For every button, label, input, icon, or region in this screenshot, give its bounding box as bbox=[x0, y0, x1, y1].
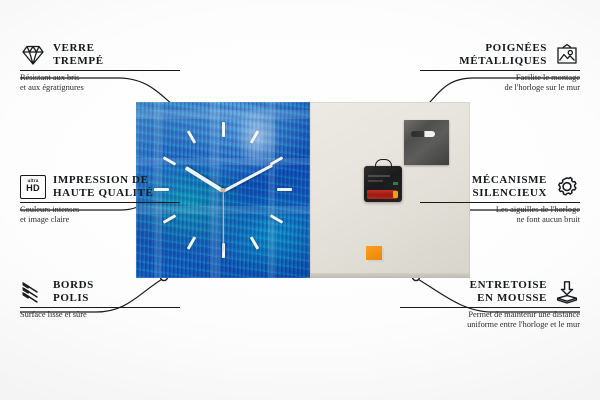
hour-tick bbox=[187, 130, 197, 144]
battery-positive-terminal bbox=[393, 191, 398, 198]
ultra-hd-badge-icon: ultra HD bbox=[20, 175, 46, 199]
movement-green-mark bbox=[393, 182, 398, 185]
title-rule bbox=[420, 70, 580, 71]
feature-subtitle: Les aiguilles de l'horloge ne font aucun… bbox=[420, 205, 580, 225]
panel-bottom-edge bbox=[310, 273, 470, 278]
feature-mecanisme-silencieux: MÉCANISME SILENCIEUX Les aiguilles de l'… bbox=[420, 174, 580, 225]
feature-title: VERRE TREMPÉ bbox=[53, 42, 104, 67]
feature-title: BORDS POLIS bbox=[53, 279, 94, 304]
feature-title: MÉCANISME SILENCIEUX bbox=[472, 174, 547, 199]
diagonal-lines-icon bbox=[20, 280, 46, 304]
feature-title: IMPRESSION DE HAUTE QUALITÉ bbox=[53, 174, 153, 199]
title-rule bbox=[400, 307, 580, 308]
feature-entretoise-en-mousse: ENTRETOISE EN MOUSSE Permet de maintenir… bbox=[400, 279, 580, 330]
feature-poignees-metalliques: POIGNÉES MÉTALLIQUES Facilite le montage… bbox=[420, 42, 580, 93]
hands-pin bbox=[221, 188, 225, 192]
hour-tick bbox=[277, 188, 292, 191]
arrow-down-onto-pad-icon bbox=[554, 280, 580, 304]
hour-tick bbox=[250, 236, 260, 250]
feature-subtitle: Résistant aux bris et aux égratignures bbox=[20, 73, 180, 93]
title-rule bbox=[420, 202, 580, 203]
foam-spacer bbox=[366, 246, 382, 260]
feature-title: ENTRETOISE EN MOUSSE bbox=[470, 279, 547, 304]
battery bbox=[367, 190, 397, 199]
hanger-keyhole-slot bbox=[411, 131, 435, 137]
ultra-hd-main-text: HD bbox=[26, 184, 40, 193]
title-rule bbox=[20, 307, 180, 308]
movement-label-line bbox=[368, 180, 383, 182]
infographic-canvas: VERRE TREMPÉ Résistant aux bris et aux é… bbox=[0, 0, 600, 400]
second-hand bbox=[222, 191, 223, 251]
metal-hanger-plate bbox=[404, 120, 449, 165]
diamond-icon bbox=[20, 43, 46, 67]
feature-title: POIGNÉES MÉTALLIQUES bbox=[459, 42, 547, 67]
hanger-loop bbox=[375, 159, 392, 169]
gear-icon bbox=[554, 175, 580, 199]
picture-frame-hanger-icon bbox=[554, 43, 580, 67]
feature-subtitle: Facilite le montage de l'horloge sur le … bbox=[420, 73, 580, 93]
title-rule bbox=[20, 202, 180, 203]
movement-label-line bbox=[368, 175, 390, 177]
quartz-movement-box bbox=[364, 166, 402, 202]
title-rule bbox=[20, 70, 180, 71]
feature-subtitle: Permet de maintenir une distance uniform… bbox=[400, 310, 580, 330]
feature-impression-haute-qualite: ultra HD IMPRESSION DE HAUTE QUALITÉ Cou… bbox=[20, 174, 180, 225]
feature-subtitle: Couleurs intenses et image claire bbox=[20, 205, 180, 225]
feature-verre-trempe: VERRE TREMPÉ Résistant aux bris et aux é… bbox=[20, 42, 180, 93]
hour-tick bbox=[187, 236, 197, 250]
feature-bords-polis: BORDS POLIS Surface lisse et sûre bbox=[20, 279, 180, 320]
hour-tick bbox=[222, 122, 225, 137]
feature-subtitle: Surface lisse et sûre bbox=[20, 310, 180, 320]
